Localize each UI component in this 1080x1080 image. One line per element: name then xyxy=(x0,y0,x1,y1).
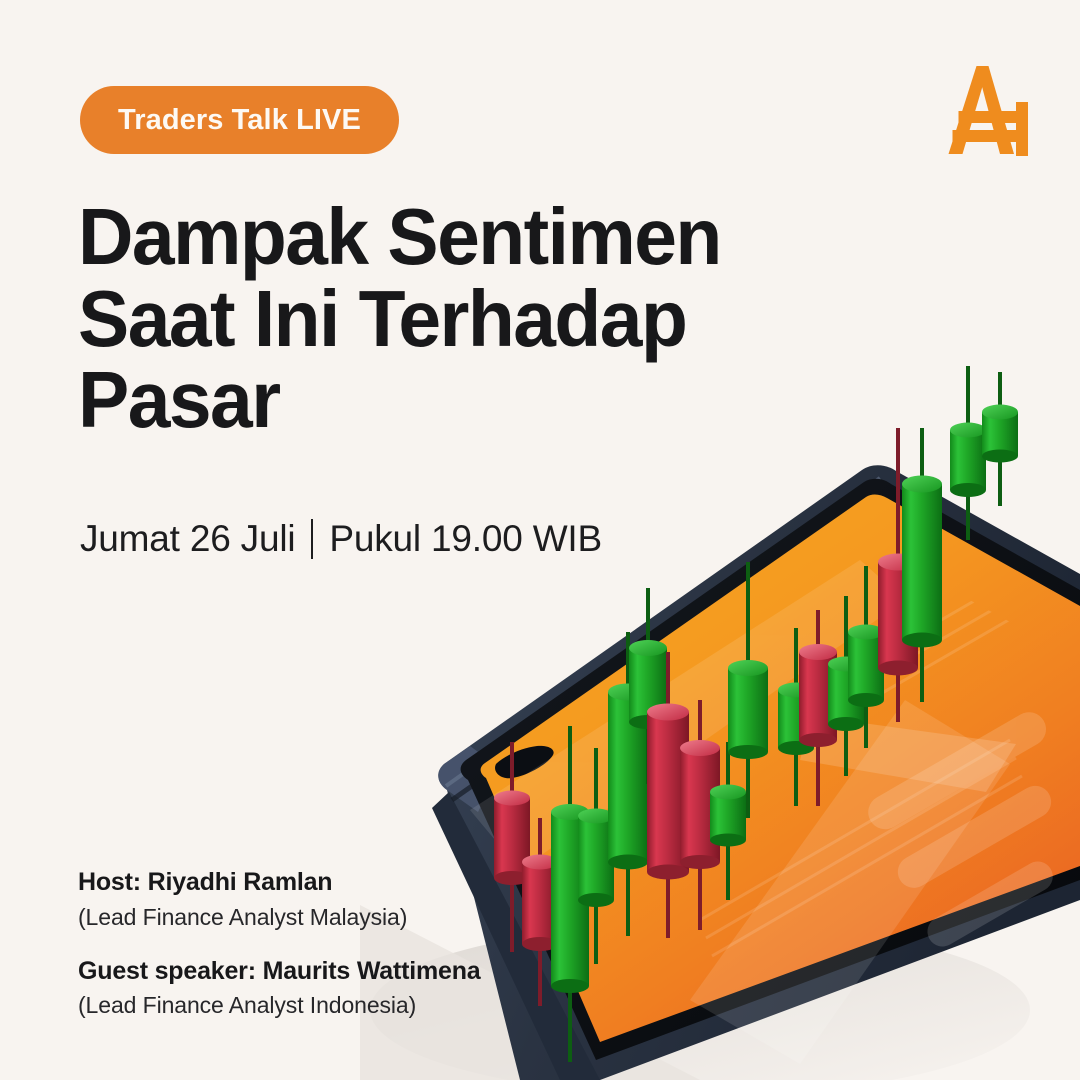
headline-line-3: Pasar xyxy=(78,359,721,441)
screen-ui-graphics xyxy=(470,560,1058,1064)
schedule-separator xyxy=(311,519,313,559)
candle-14 xyxy=(848,566,884,748)
candle-07 xyxy=(647,652,689,938)
headline-line-2: Saat Ini Terhadap xyxy=(78,278,721,360)
page-title: Dampak Sentimen Saat Ini Terhadap Pasar xyxy=(78,196,721,441)
headline-line-1: Dampak Sentimen xyxy=(78,196,721,278)
schedule-line: Jumat 26 Juli Pukul 19.00 WIB xyxy=(80,518,602,560)
candle-12 xyxy=(799,610,837,806)
candle-05 xyxy=(608,632,648,936)
octa-a-monogram-icon xyxy=(932,62,1040,162)
host-credit: Host: Riyadhi Ramlan (Lead Finance Analy… xyxy=(78,866,481,933)
guest-credit: Guest speaker: Maurits Wattimena (Lead F… xyxy=(78,955,481,1022)
schedule-time: Pukul 19.00 WIB xyxy=(329,518,602,560)
candle-18 xyxy=(982,372,1018,506)
schedule-date: Jumat 26 Juli xyxy=(80,518,295,560)
live-badge-label: Traders Talk LIVE xyxy=(118,104,361,137)
candle-16 xyxy=(902,428,942,702)
candle-17 xyxy=(950,366,986,540)
candle-15 xyxy=(878,428,918,722)
host-name: Host: Riyadhi Ramlan xyxy=(78,866,481,899)
brand-logo xyxy=(932,62,1040,162)
candle-13 xyxy=(828,596,864,776)
live-badge[interactable]: Traders Talk LIVE xyxy=(80,86,399,154)
candle-01 xyxy=(494,742,530,952)
candlestick-group xyxy=(494,366,1018,1062)
candle-03 xyxy=(551,726,589,1062)
credits-block: Host: Riyadhi Ramlan (Lead Finance Analy… xyxy=(78,866,481,1021)
host-role: (Lead Finance Analyst Malaysia) xyxy=(78,902,481,933)
candle-04 xyxy=(578,748,614,964)
candle-09 xyxy=(710,742,746,900)
candle-11 xyxy=(778,628,814,806)
candle-08 xyxy=(680,700,720,930)
guest-role: (Lead Finance Analyst Indonesia) xyxy=(78,990,481,1021)
candle-06 xyxy=(629,588,667,784)
candle-02 xyxy=(522,818,558,1006)
candle-10 xyxy=(728,562,768,818)
guest-name: Guest speaker: Maurits Wattimena xyxy=(78,955,481,988)
poster-canvas: Traders Talk LIVE Dampak Sentimen Saat I… xyxy=(0,0,1080,1080)
